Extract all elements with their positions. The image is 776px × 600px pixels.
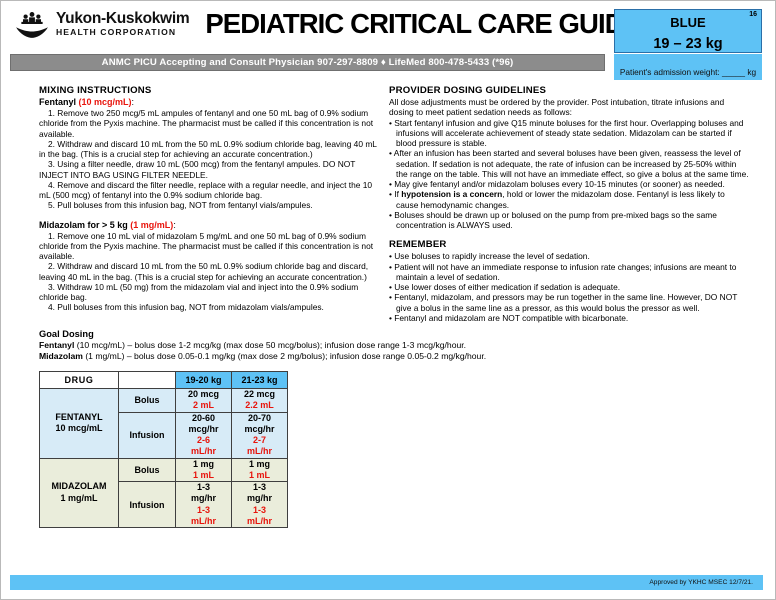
drug-conc-fentanyl: 10 mcg/mL <box>40 423 118 435</box>
goal-dosing-midazolam: Midazolam (1 mg/mL) – bolus dose 0.05-0.… <box>39 351 739 362</box>
dose-volume: 1-3mL/hr <box>232 505 287 528</box>
dose-main: 20-60mcg/hr <box>176 413 231 436</box>
remember-bullet: • Use lower doses of either medication i… <box>389 282 749 292</box>
dose-main: 22 mcg <box>232 389 287 400</box>
drug-name-fentanyl: FENTANYL <box>40 412 118 424</box>
dose-volume: 2.2 mL <box>232 400 287 411</box>
remember-bullet: • Patient will not have an immediate res… <box>389 262 749 283</box>
dose-volume: 1 mL <box>232 470 287 481</box>
dose-main: 1 mg <box>176 459 231 470</box>
admission-weight-label: Patient's admission weight: _____ kg <box>620 67 756 77</box>
hypotension-emphasis: hypotension is a concern <box>401 189 502 199</box>
goal-dosing-fentanyl: Fentanyl (10 mcg/mL) – bolus dose 1-2 mc… <box>39 340 739 351</box>
goal-fentanyl-detail: (10 mcg/mL) – bolus dose 1-2 mcg/kg (max… <box>74 340 466 350</box>
dose-main: 1 mg <box>232 459 287 470</box>
provider-bullet-hypotension: • If hypotension is a concern, hold or l… <box>389 189 749 210</box>
fentanyl-mix-title: Fentanyl (10 mcg/mL): <box>39 97 381 107</box>
provider-bullet: • May give fentanyl and/or midazolam bol… <box>389 179 749 189</box>
organization-logo: Yukon-Kuskokwim HEALTH CORPORATION <box>15 9 189 39</box>
weight-band-box: 16 BLUE 19 – 23 kg <box>614 9 762 53</box>
midazolam-step: 1. Remove one 10 mL vial of midazolam 5 … <box>39 231 381 262</box>
mixing-instructions-section: MIXING INSTRUCTIONS Fentanyl (10 mcg/mL)… <box>39 85 381 313</box>
midazolam-step: 3. Withdraw 10 mL (50 mg) from the midaz… <box>39 282 381 303</box>
mixing-heading: MIXING INSTRUCTIONS <box>39 85 381 96</box>
dose-volume: 2-6mL/hr <box>176 435 231 458</box>
midazolam-step: 2. Withdraw and discard 10 mL from the 5… <box>39 261 381 282</box>
fentanyl-step: 1. Remove two 250 mcg/5 mL ampules of fe… <box>39 108 381 139</box>
remember-bullet: • Use boluses to rapidly increase the le… <box>389 251 749 261</box>
table-cell: 20 mcg 2 mL <box>176 389 232 413</box>
dose-volume: 1 mL <box>176 470 231 481</box>
dose-volume: 2-7mL/hr <box>232 435 287 458</box>
band-color-label: BLUE <box>615 15 761 30</box>
dose-volume: 1-3mL/hr <box>176 505 231 528</box>
goal-fentanyl-name: Fentanyl <box>39 340 74 350</box>
admission-weight-field[interactable]: Patient's admission weight: _____ kg <box>614 54 762 80</box>
fentanyl-step: 3. Using a filter needle, draw 10 mL (50… <box>39 159 381 180</box>
remember-heading: REMEMBER <box>389 239 749 250</box>
midazolam-step: 4. Pull boluses from this infusion bag, … <box>39 302 381 312</box>
table-cell: 1-3mg/hr 1-3mL/hr <box>232 482 288 528</box>
table-type-bolus: Bolus <box>119 458 176 482</box>
dose-main: 20-70mcg/hr <box>232 413 287 436</box>
table-header-row: DRUG 19-20 kg 21-23 kg <box>40 372 288 389</box>
dose-main: 1-3mg/hr <box>232 482 287 505</box>
table-cell: 1 mg 1 mL <box>176 458 232 482</box>
goal-dosing-heading: Goal Dosing <box>39 329 739 339</box>
fentanyl-step: 4. Remove and discard the filter needle,… <box>39 180 381 201</box>
midazolam-mix-colon: : <box>173 220 176 230</box>
remember-bullet: • Fentanyl, midazolam, and pressors may … <box>389 292 749 313</box>
dose-main: 20 mcg <box>176 389 231 400</box>
table-cell: 1 mg 1 mL <box>232 458 288 482</box>
table-cell: 1-3mg/hr 1-3mL/hr <box>176 482 232 528</box>
table-header-type <box>119 372 176 389</box>
goal-dosing-section: Goal Dosing Fentanyl (10 mcg/mL) – bolus… <box>39 329 739 361</box>
provider-guidelines-section: PROVIDER DOSING GUIDELINES All dose adju… <box>389 85 749 323</box>
midazolam-mix-name: Midazolam for > 5 kg <box>39 220 128 230</box>
table-drug-fentanyl: FENTANYL 10 mcg/mL <box>40 389 119 459</box>
table-cell: 20-70mcg/hr 2-7mL/hr <box>232 412 288 458</box>
table-cell: 22 mcg 2.2 mL <box>232 389 288 413</box>
table-type-bolus: Bolus <box>119 389 176 413</box>
provider-bullet: • Boluses should be drawn up or bolused … <box>389 210 749 231</box>
dose-main: 1-3mg/hr <box>176 482 231 505</box>
drug-name-midazolam: MIDAZOLAM <box>40 481 118 493</box>
fentanyl-mix-concentration: (10 mcg/mL) <box>79 97 132 107</box>
goal-midazolam-detail: (1 mg/mL) – bolus dose 0.05-0.1 mg/kg (m… <box>83 351 486 361</box>
provider-bullet: • After an infusion has been started and… <box>389 148 749 179</box>
fentanyl-mix-colon: : <box>132 97 135 107</box>
organization-name-block: Yukon-Kuskokwim HEALTH CORPORATION <box>56 11 189 37</box>
approval-text: Approved by YKHC MSEC 12/7/21. <box>649 579 753 586</box>
provider-intro: All dose adjustments must be ordered by … <box>389 97 749 118</box>
provider-heading: PROVIDER DOSING GUIDELINES <box>389 85 749 96</box>
dosing-table: DRUG 19-20 kg 21-23 kg FENTANYL 10 mcg/m… <box>39 371 288 528</box>
page-number: 16 <box>749 11 757 18</box>
table-row: MIDAZOLAM 1 mg/mL Bolus 1 mg 1 mL 1 mg 1… <box>40 458 288 482</box>
contact-bar: ANMC PICU Accepting and Consult Physicia… <box>10 54 605 71</box>
table-type-infusion: Infusion <box>119 412 176 458</box>
goal-midazolam-name: Midazolam <box>39 351 83 361</box>
hypotension-prefix: • If <box>389 189 401 199</box>
table-drug-midazolam: MIDAZOLAM 1 mg/mL <box>40 458 119 528</box>
remember-bullet: • Fentanyl and midazolam are NOT compati… <box>389 313 749 323</box>
page-footer: Approved by YKHC MSEC 12/7/21. <box>10 575 763 590</box>
organization-subtitle: HEALTH CORPORATION <box>56 28 189 37</box>
midazolam-mix-concentration: (1 mg/mL) <box>130 220 173 230</box>
organization-name: Yukon-Kuskokwim <box>56 11 189 27</box>
drug-conc-midazolam: 1 mg/mL <box>40 493 118 505</box>
fentanyl-mix-name: Fentanyl <box>39 97 76 107</box>
ykhc-emblem-icon <box>15 9 49 39</box>
table-header-weight-1: 19-20 kg <box>176 372 232 389</box>
band-weight-range: 19 – 23 kg <box>615 36 761 52</box>
page-title: PEDIATRIC CRITICAL CARE GUIDE <box>205 8 641 40</box>
fentanyl-step: 2. Withdraw and discard 10 mL from the 5… <box>39 139 381 160</box>
table-type-infusion: Infusion <box>119 482 176 528</box>
guide-page: Yukon-Kuskokwim HEALTH CORPORATION PEDIA… <box>0 0 776 600</box>
fentanyl-step: 5. Pull boluses from this infusion bag, … <box>39 200 381 210</box>
provider-bullet: • Start fentanyl infusion and give Q15 m… <box>389 118 749 149</box>
table-header-weight-2: 21-23 kg <box>232 372 288 389</box>
table-header-drug: DRUG <box>40 372 119 389</box>
dose-volume: 2 mL <box>176 400 231 411</box>
table-cell: 20-60mcg/hr 2-6mL/hr <box>176 412 232 458</box>
midazolam-mix-title: Midazolam for > 5 kg (1 mg/mL): <box>39 220 381 230</box>
table-row: FENTANYL 10 mcg/mL Bolus 20 mcg 2 mL 22 … <box>40 389 288 413</box>
